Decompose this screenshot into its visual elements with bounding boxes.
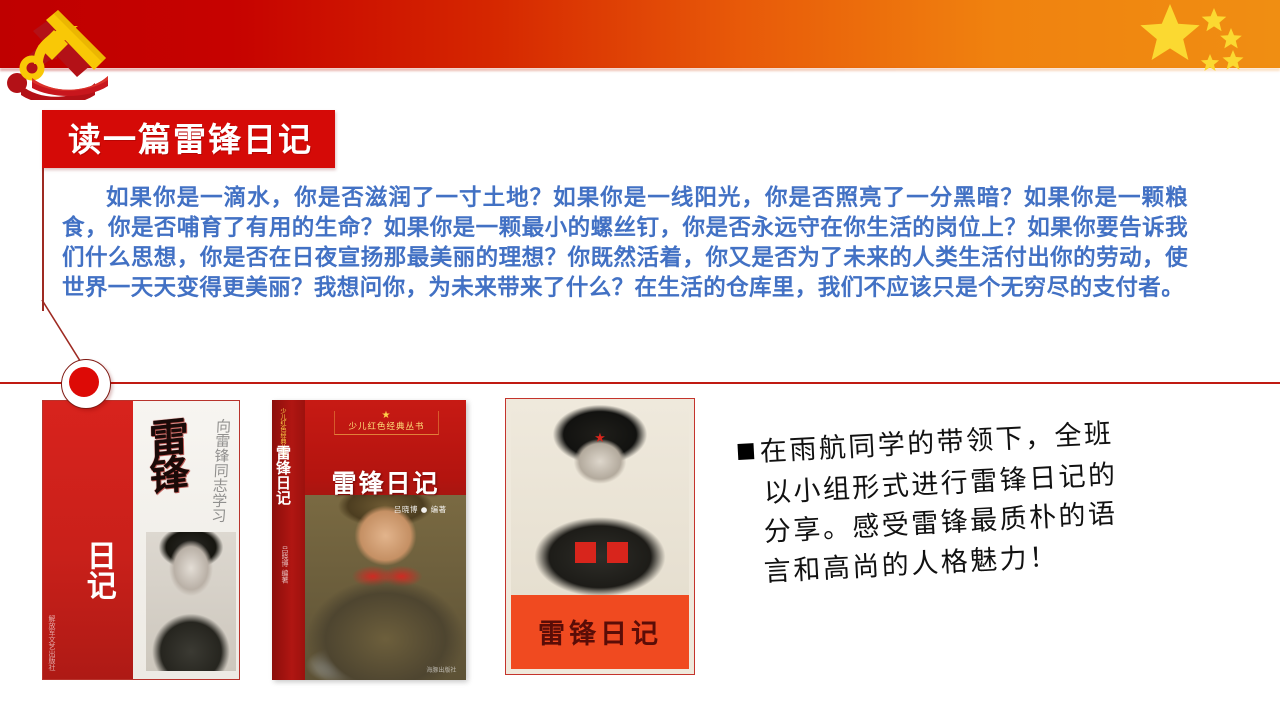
handwritten-line-4-text: 言和高尚的人格魅力！ — [763, 543, 1059, 586]
book-2-front: 少儿红色经典丛书 雷锋日记 吕晓博 ● 编著 海豚出版社 — [305, 400, 466, 680]
handwritten-line-3-text: 分享。感受雷锋最质朴的语 — [763, 501, 1118, 547]
book-cover-1: 向雷锋同志学习 雷锋 日记 解放军文艺出版社 — [42, 400, 240, 680]
handwritten-line-2-text: 以小组形式进行雷锋日记的 — [763, 461, 1118, 507]
party-emblem-icon — [6, 0, 124, 100]
book-1-calligraphy-title: 雷锋 — [94, 416, 185, 500]
handwritten-line-1-text: 在雨航同学的带领下，全班 — [759, 420, 1114, 466]
book-cover-3: ★ 雷锋日记 — [505, 398, 695, 675]
book-2-author: 吕晓博 ● 编著 — [394, 504, 447, 515]
section-divider — [0, 382, 1280, 384]
header-band — [0, 0, 1280, 68]
book-1-publisher: 解放军文艺出版社 — [47, 615, 57, 671]
lei-feng-diary-quote: 如果你是一滴水，你是否滋润了一寸土地？如果你是一线阳光，你是否照亮了一分黑暗？如… — [62, 183, 1188, 303]
slide-title-banner: 读一篇雷锋日记 — [42, 110, 335, 168]
handwritten-note: 在雨航同学的带领下，全班 以小组形式进行雷锋日记的 分享。感受雷锋最质朴的语 言… — [738, 440, 1238, 586]
callout-vertical-line — [42, 168, 44, 311]
page-title: 读一篇雷锋日记 — [68, 123, 313, 156]
book-2-cover-photo — [305, 495, 466, 680]
book-cover-2: 少儿红色经典丛书 雷锋日记 吕晓博 编著 少儿红色经典丛书 雷锋日记 吕晓博 ●… — [272, 400, 466, 680]
book-3-title-band: 雷锋日记 — [511, 595, 689, 669]
book-3-inner: ★ 雷锋日记 — [511, 404, 689, 669]
book-3-title: 雷锋日记 — [538, 612, 662, 651]
slide-canvas: 读一篇雷锋日记 如果你是一滴水，你是否滋润了一寸土地？如果你是一线阳光，你是否照… — [0, 0, 1280, 720]
book-1-portrait-photo — [146, 532, 236, 671]
flag-stars-icon — [1130, 2, 1262, 72]
book-3-collar-left — [575, 542, 596, 563]
book-2-spine-title: 雷锋日记 — [275, 445, 290, 505]
book-3-collar-right — [607, 542, 628, 563]
book-2-series-banner: 少儿红色经典丛书 — [334, 411, 439, 435]
book-2-title: 雷锋日记 — [305, 464, 466, 500]
book-1-subtitle: 日记 — [82, 540, 114, 600]
book-2-spine: 少儿红色经典丛书 雷锋日记 吕晓博 编著 — [272, 400, 305, 680]
red-dot-marker — [61, 359, 111, 409]
red-star-icon: ★ — [594, 431, 606, 446]
square-bullet-icon — [737, 443, 754, 460]
book-2-publisher: 海豚出版社 — [426, 665, 456, 674]
book-2-spine-author: 吕晓博 编著 — [280, 546, 290, 583]
